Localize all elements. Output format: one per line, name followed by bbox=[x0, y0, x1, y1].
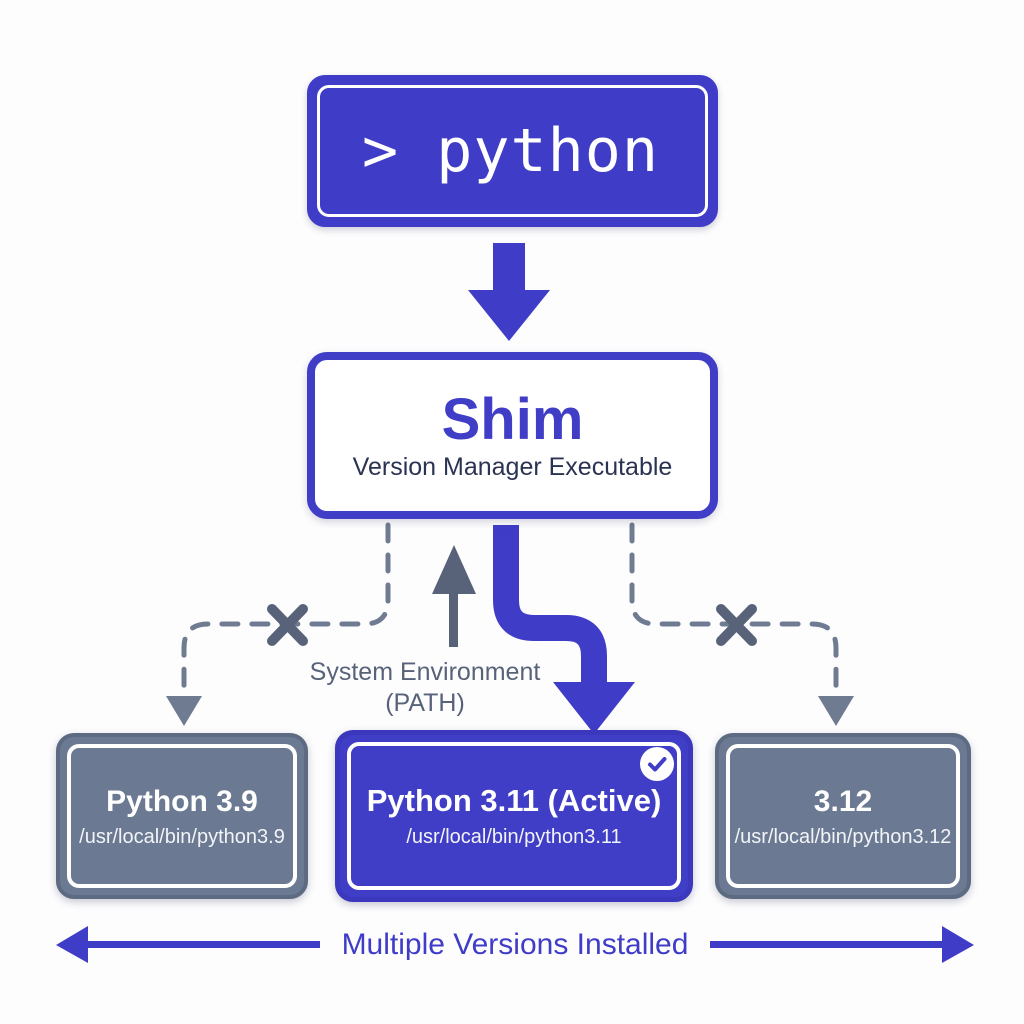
terminal-command-box[interactable]: > python bbox=[307, 75, 718, 227]
check-glyph bbox=[645, 752, 669, 776]
path-label-line1: System Environment bbox=[303, 657, 547, 688]
x-mark-icon bbox=[721, 609, 752, 641]
diagram-canvas: > python Shim Version Manager Executable… bbox=[0, 0, 1024, 1024]
multiple-versions-caption: Multiple Versions Installed bbox=[320, 928, 710, 961]
shim-box[interactable]: Shim Version Manager Executable bbox=[307, 352, 718, 519]
version-path: /usr/local/bin/python3.11 bbox=[406, 826, 621, 848]
version-title: Python 3.9 bbox=[106, 785, 258, 818]
arrow-down-icon bbox=[468, 243, 550, 341]
version-path: /usr/local/bin/python3.9 bbox=[79, 826, 285, 848]
version-inner-frame: Python 3.9 /usr/local/bin/python3.9 bbox=[67, 744, 297, 888]
shim-title: Shim bbox=[442, 391, 584, 449]
terminal-inner-frame: > python bbox=[317, 85, 708, 217]
version-box-python-3-12[interactable]: 3.12 /usr/local/bin/python3.12 bbox=[715, 733, 971, 899]
path-label-line2: (PATH) bbox=[303, 688, 547, 719]
arrow-up-icon bbox=[432, 545, 476, 647]
x-mark-icon bbox=[272, 609, 303, 641]
version-box-python-3-11-active[interactable]: Python 3.11 (Active) /usr/local/bin/pyth… bbox=[335, 730, 693, 902]
shim-subtitle: Version Manager Executable bbox=[353, 455, 673, 480]
version-title: Python 3.11 (Active) bbox=[367, 784, 662, 818]
dashed-path-right bbox=[632, 525, 854, 726]
system-environment-label: System Environment (PATH) bbox=[303, 657, 547, 720]
terminal-command-text: > python bbox=[320, 116, 659, 186]
check-circle-icon bbox=[640, 747, 674, 781]
version-box-python-3-9[interactable]: Python 3.9 /usr/local/bin/python3.9 bbox=[56, 733, 308, 899]
version-inner-frame: 3.12 /usr/local/bin/python3.12 bbox=[726, 744, 960, 888]
version-path: /usr/local/bin/python3.12 bbox=[735, 826, 952, 848]
version-title: 3.12 bbox=[814, 785, 872, 818]
version-inner-frame: Python 3.11 (Active) /usr/local/bin/pyth… bbox=[347, 742, 681, 890]
